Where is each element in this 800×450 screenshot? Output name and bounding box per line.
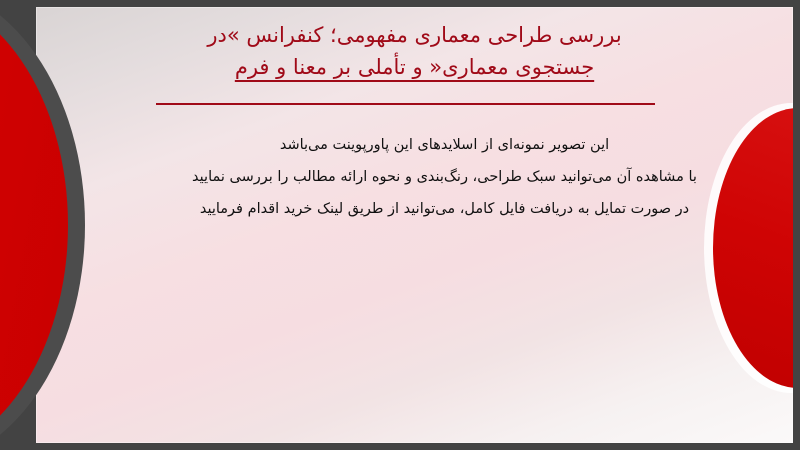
slide-body-line-3: در صورت تمایل به دریافت فایل کامل، می‌تو… bbox=[186, 193, 703, 225]
slide-title-line-2: جستجوی معماری« و تأملی بر معنا و فرم bbox=[156, 51, 673, 83]
slide-body: این تصویر نمونه‌ای از اسلایدهای این پاور… bbox=[186, 129, 703, 225]
slide-content-panel: بررسی طراحی معماری مفهومی؛ کنفرانس »در ج… bbox=[36, 7, 793, 443]
presentation-slide: بررسی طراحی معماری مفهومی؛ کنفرانس »در ج… bbox=[0, 0, 800, 450]
slide-title: بررسی طراحی معماری مفهومی؛ کنفرانس »در ج… bbox=[156, 19, 673, 83]
slide-body-line-2: با مشاهده آن می‌توانید سبک طراحی، رنگ‌بن… bbox=[186, 161, 703, 193]
slide-title-underline-rule bbox=[156, 103, 655, 105]
right-red-ellipse bbox=[713, 108, 793, 388]
slide-body-line-1: این تصویر نمونه‌ای از اسلایدهای این پاور… bbox=[186, 129, 703, 161]
slide-title-line-1: بررسی طراحی معماری مفهومی؛ کنفرانس »در bbox=[156, 19, 673, 51]
